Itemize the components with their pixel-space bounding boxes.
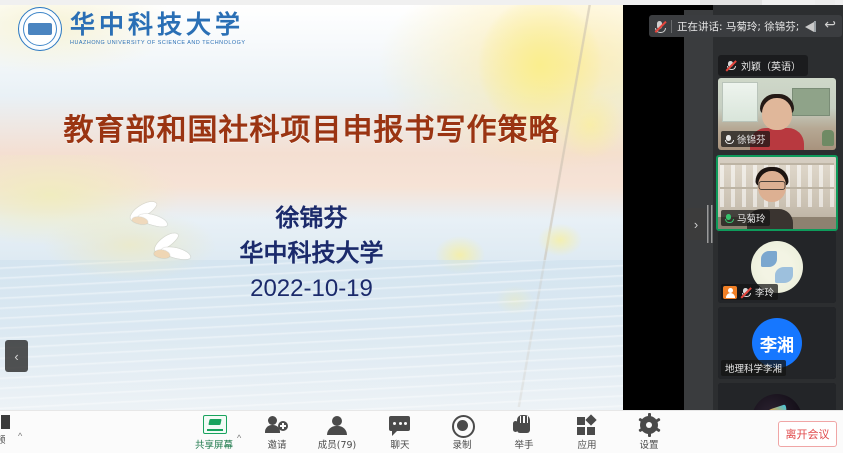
meeting-window: 华中科技大学 HUAZHONG UNIVERSITY OF SCIENCE AN… xyxy=(0,0,843,453)
participant-name: 李玲 xyxy=(755,285,774,299)
settings-gear-icon xyxy=(637,415,661,435)
mic-active-icon xyxy=(723,213,734,224)
avatar xyxy=(718,383,836,410)
record-icon xyxy=(450,415,474,435)
meeting-toolbar: 频 ^ 共享屏幕 ^ 邀请 成员(79) 聊天 xyxy=(0,410,843,453)
mic-muted-icon xyxy=(725,60,737,71)
mic-muted-icon xyxy=(740,287,752,298)
mic-on-icon xyxy=(723,134,734,145)
participant-namebar: 徐锦芬 xyxy=(721,131,770,147)
settings-button[interactable]: 设置 xyxy=(622,415,676,451)
panel-collapse-button[interactable]: › xyxy=(686,208,706,240)
speaker-icon[interactable] xyxy=(804,20,819,33)
slide-subtitle-block: 徐锦芬 华中科技大学 2022-10-19 xyxy=(0,201,623,307)
share-screen-label: 共享屏幕 xyxy=(195,437,233,451)
back-arrow-icon[interactable] xyxy=(824,20,838,33)
video-toggle-button[interactable]: 频 xyxy=(0,415,10,446)
chat-button[interactable]: 聊天 xyxy=(373,415,427,451)
apps-label: 应用 xyxy=(577,437,596,451)
university-seal-icon xyxy=(18,7,62,51)
invite-label: 邀请 xyxy=(267,437,286,451)
shared-screen-stage: 华中科技大学 HUAZHONG UNIVERSITY OF SCIENCE AN… xyxy=(0,5,713,410)
participant-tile-video[interactable]: 徐锦芬 xyxy=(718,78,836,150)
apps-button[interactable]: 应用 xyxy=(560,415,614,451)
slide-date: 2022-10-19 xyxy=(0,271,623,307)
participant-tile-avatar[interactable]: 李玲 xyxy=(718,231,836,303)
presentation-slide: 华中科技大学 HUAZHONG UNIVERSITY OF SCIENCE AN… xyxy=(0,5,623,417)
list-item[interactable]: 刘颖（英语） xyxy=(718,55,808,76)
chat-label: 聊天 xyxy=(390,437,409,451)
participant-name: 地理科学李湘 xyxy=(721,360,786,376)
apps-icon xyxy=(575,415,599,435)
share-screen-button[interactable]: 共享屏幕 xyxy=(187,415,241,451)
university-logo-cn: 华中科技大学 xyxy=(70,12,246,38)
camera-icon xyxy=(1,415,10,429)
host-badge-icon xyxy=(723,286,737,299)
image-avatar-icon xyxy=(752,394,802,410)
active-speaker-text: 正在讲话: 马菊玲; 徐锦芬; xyxy=(677,19,799,34)
slide-prev-button[interactable]: ‹ xyxy=(5,340,28,372)
participant-name: 徐锦芬 xyxy=(737,132,766,146)
record-label: 录制 xyxy=(452,437,471,451)
participant-namebar: 李玲 xyxy=(721,284,778,300)
participant-tile-avatar[interactable]: 李湘 地理科学李湘 xyxy=(718,307,836,379)
participants-label: 成员(79) xyxy=(318,437,357,451)
share-screen-icon xyxy=(202,415,226,435)
participant-name: 刘颖（英语） xyxy=(741,58,801,73)
video-options-chevron-icon[interactable]: ^ xyxy=(18,431,22,441)
raise-hand-button[interactable]: 举手 xyxy=(497,415,551,451)
participant-namebar: 马菊玲 xyxy=(721,210,770,226)
active-speaker-bar: 正在讲话: 马菊玲; 徐锦芬; xyxy=(649,15,842,37)
record-button[interactable]: 录制 xyxy=(435,415,489,451)
chat-icon xyxy=(388,415,412,435)
university-logo: 华中科技大学 HUAZHONG UNIVERSITY OF SCIENCE AN… xyxy=(18,7,246,51)
slide-presenter: 徐锦芬 xyxy=(0,201,623,235)
divider xyxy=(671,20,672,33)
participant-tile-video-active[interactable]: 马菊玲 xyxy=(716,155,838,231)
raise-hand-label: 举手 xyxy=(514,437,533,451)
raise-hand-icon xyxy=(512,415,536,435)
participants-icon xyxy=(325,415,349,435)
video-toggle-label: 频 xyxy=(0,432,6,446)
invite-button[interactable]: 邀请 xyxy=(250,415,304,451)
participant-tile-avatar[interactable] xyxy=(718,383,836,410)
participants-button[interactable]: 成员(79) xyxy=(310,415,364,451)
invite-icon xyxy=(265,415,289,435)
settings-label: 设置 xyxy=(639,437,658,451)
participant-name: 马菊玲 xyxy=(737,211,766,225)
mic-muted-icon[interactable] xyxy=(653,20,666,33)
share-options-chevron-icon[interactable]: ^ xyxy=(237,433,241,443)
slide-title: 教育部和国社科项目申报书写作策略 xyxy=(0,105,623,149)
leave-meeting-button[interactable]: 离开会议 xyxy=(778,421,837,447)
university-logo-en: HUAZHONG UNIVERSITY OF SCIENCE AND TECHN… xyxy=(70,40,246,46)
slide-affiliation: 华中科技大学 xyxy=(0,235,623,271)
participant-panel[interactable]: 刘颖（英语） 徐锦芬 马菊玲 xyxy=(713,5,843,410)
